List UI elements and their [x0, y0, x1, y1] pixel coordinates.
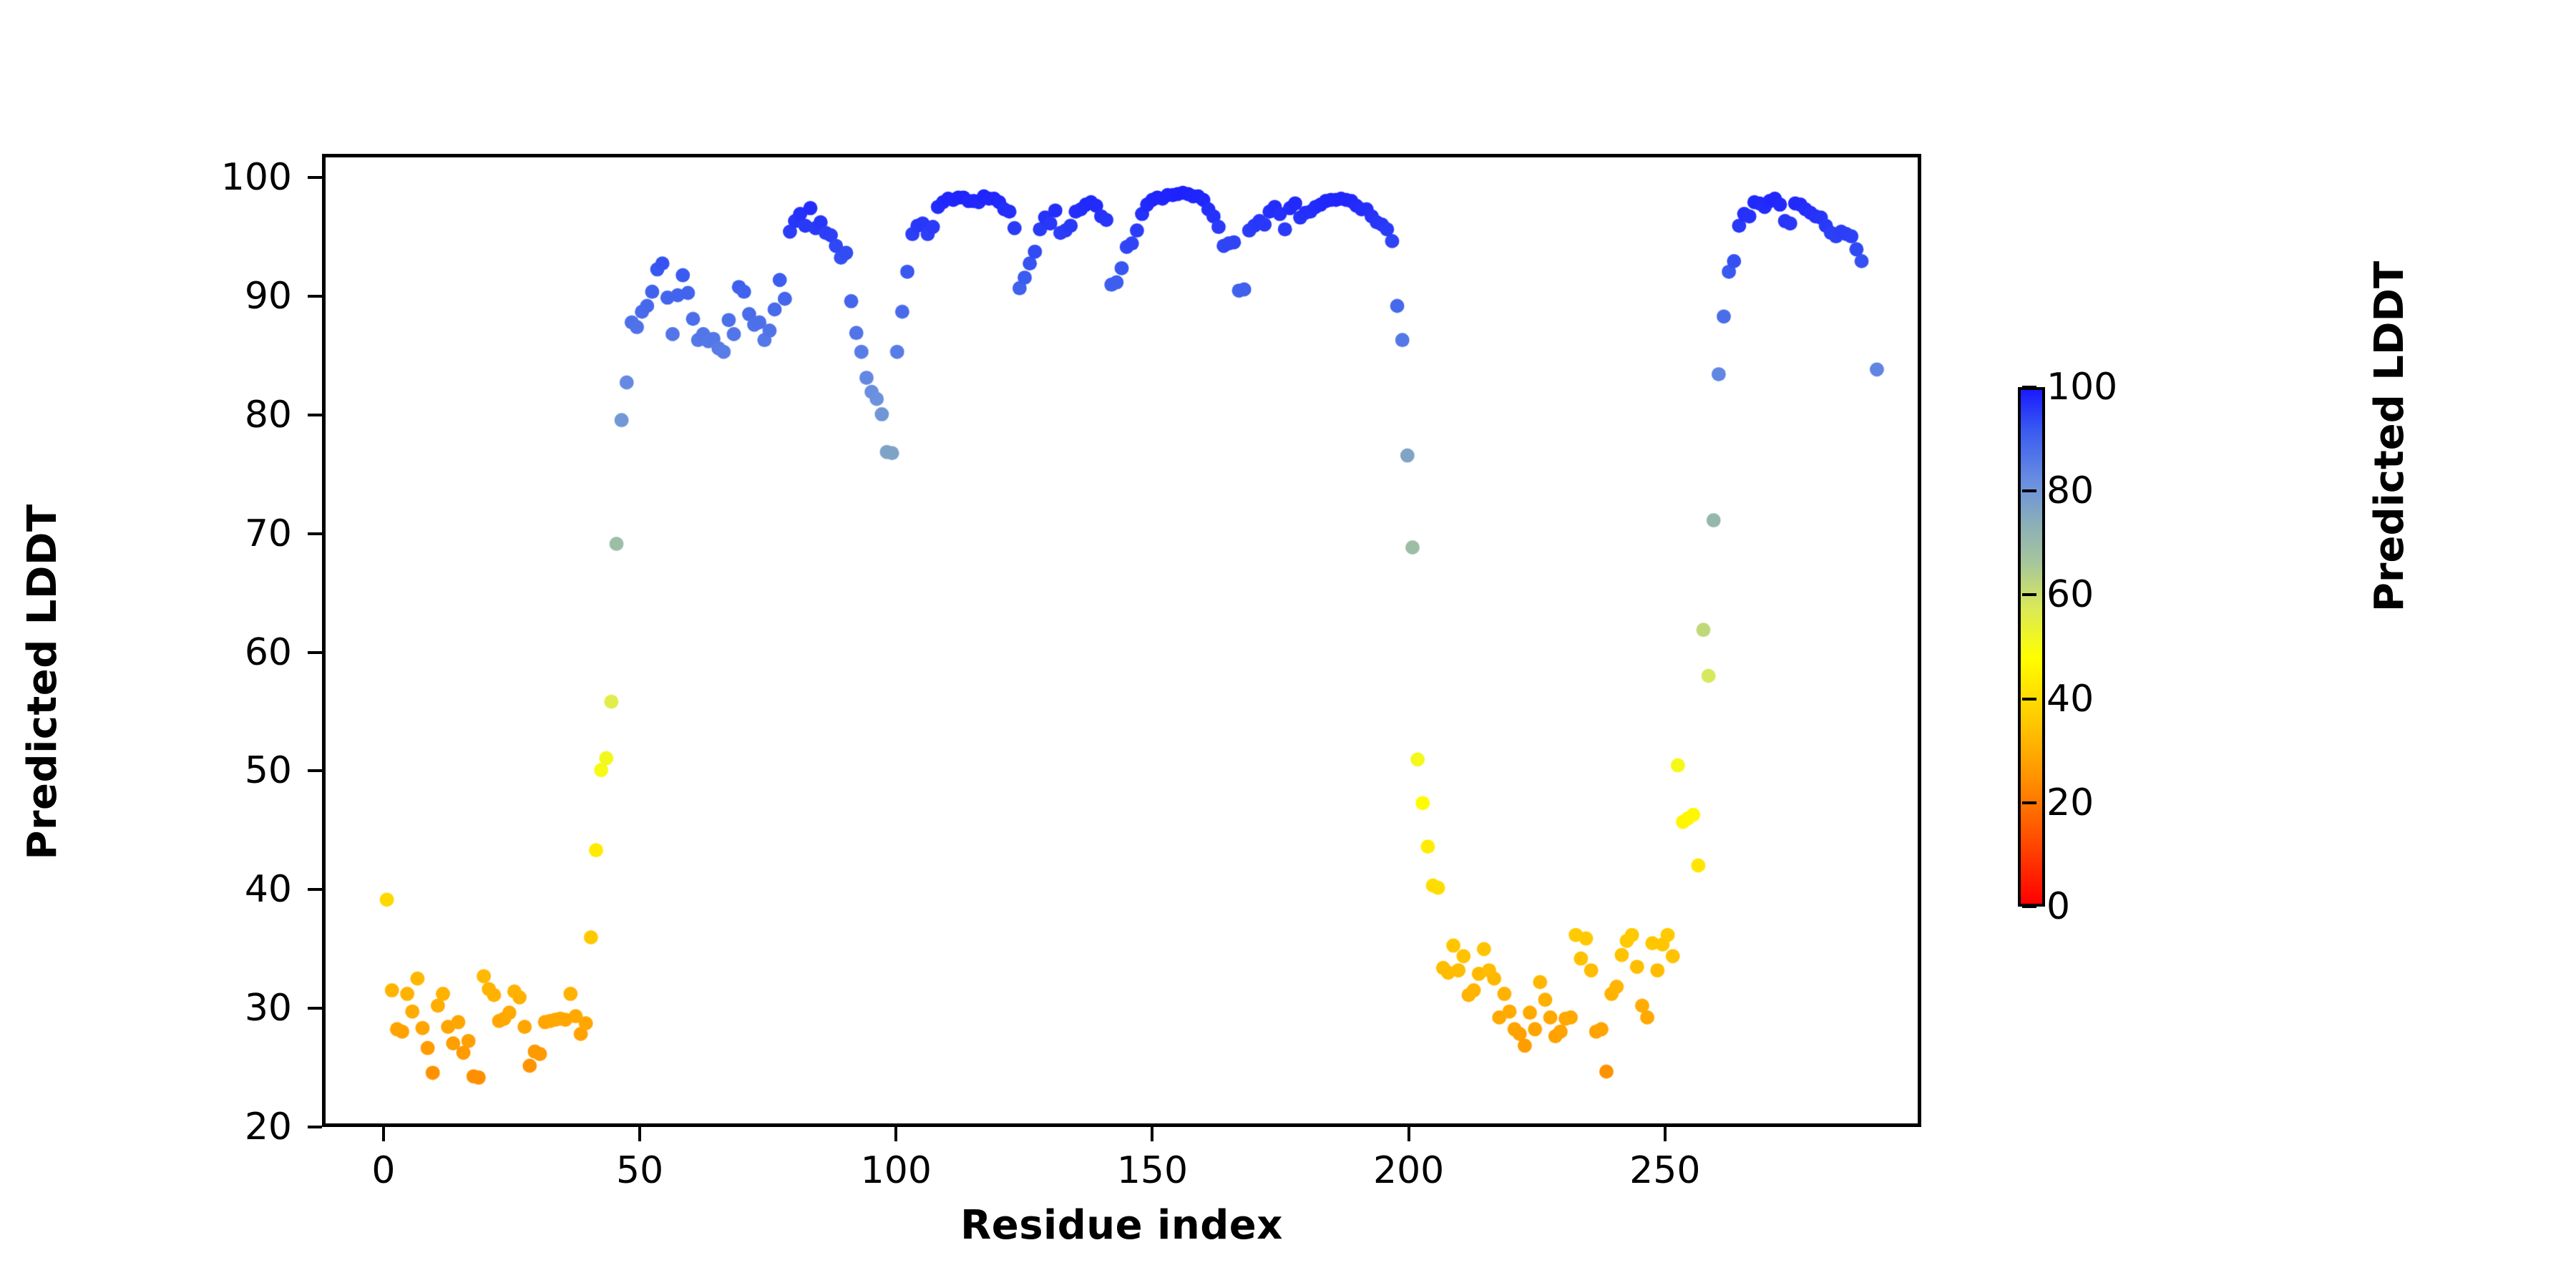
colorbar-tick-mark [2022, 386, 2036, 389]
x-axis-tick-label: 50 [575, 1150, 704, 1191]
y-axis-tick-mark [308, 651, 322, 654]
x-axis-tick-mark [1407, 1127, 1410, 1141]
colorbar-tick-label: 0 [2046, 886, 2070, 927]
y-axis-tick-mark [308, 532, 322, 535]
x-axis-tick-label: 100 [831, 1150, 960, 1191]
y-axis-tick-label: 100 [221, 157, 292, 198]
y-axis-tick-label: 60 [245, 632, 292, 673]
y-axis-title: Predicted LDDT [0, 195, 86, 1169]
colorbar-tick-mark [2022, 489, 2036, 492]
y-axis-tick-label: 50 [245, 750, 292, 791]
y-axis-tick-label: 30 [245, 987, 292, 1029]
y-axis-tick-mark [308, 1007, 322, 1010]
colorbar-tick-mark [2022, 698, 2036, 701]
colorbar-tick-mark [2022, 593, 2036, 596]
x-axis-tick-label: 0 [319, 1150, 448, 1191]
y-axis-tick-label: 20 [245, 1106, 292, 1148]
y-axis-tick-mark [308, 295, 322, 298]
colorbar-tick-label: 100 [2046, 366, 2117, 408]
colorbar-tick-label: 60 [2046, 574, 2094, 615]
colorbar-tick-mark [2022, 905, 2036, 908]
plot-area [322, 154, 1921, 1127]
x-axis-tick-mark [638, 1127, 641, 1141]
colorbar-tick-label: 80 [2046, 470, 2094, 512]
y-axis-tick-mark [308, 414, 322, 416]
colorbar-title: Predicted LDDT [2351, 186, 2429, 687]
y-axis-tick-mark [308, 176, 322, 179]
colorbar-gradient [2018, 387, 2045, 907]
x-axis-tick-label: 200 [1345, 1150, 1473, 1191]
y-axis-tick-label: 90 [245, 275, 292, 317]
colorbar-tick-label: 40 [2046, 678, 2094, 720]
x-axis-tick-mark [1151, 1127, 1153, 1141]
y-axis-tick-label: 70 [245, 513, 292, 555]
x-axis-title: Residue index [322, 1202, 1921, 1249]
x-axis-tick-mark [382, 1127, 385, 1141]
x-axis-tick-label: 250 [1601, 1150, 1729, 1191]
y-axis-tick-mark [308, 769, 322, 772]
y-axis-tick-mark [308, 1126, 322, 1128]
colorbar-tick-label: 20 [2046, 782, 2094, 824]
y-axis-tick-label: 40 [245, 869, 292, 910]
plot-page: Residue index Predicted LDDT Predicted L… [0, 0, 2576, 1288]
x-axis-tick-label: 150 [1088, 1150, 1216, 1191]
colorbar [2018, 387, 2045, 907]
y-axis-tick-label: 80 [245, 394, 292, 436]
colorbar-tick-mark [2022, 801, 2036, 804]
x-axis-tick-mark [1664, 1127, 1667, 1141]
y-axis-tick-mark [308, 888, 322, 891]
scatter-points-layer [326, 157, 1918, 1123]
x-axis-tick-mark [894, 1127, 897, 1141]
